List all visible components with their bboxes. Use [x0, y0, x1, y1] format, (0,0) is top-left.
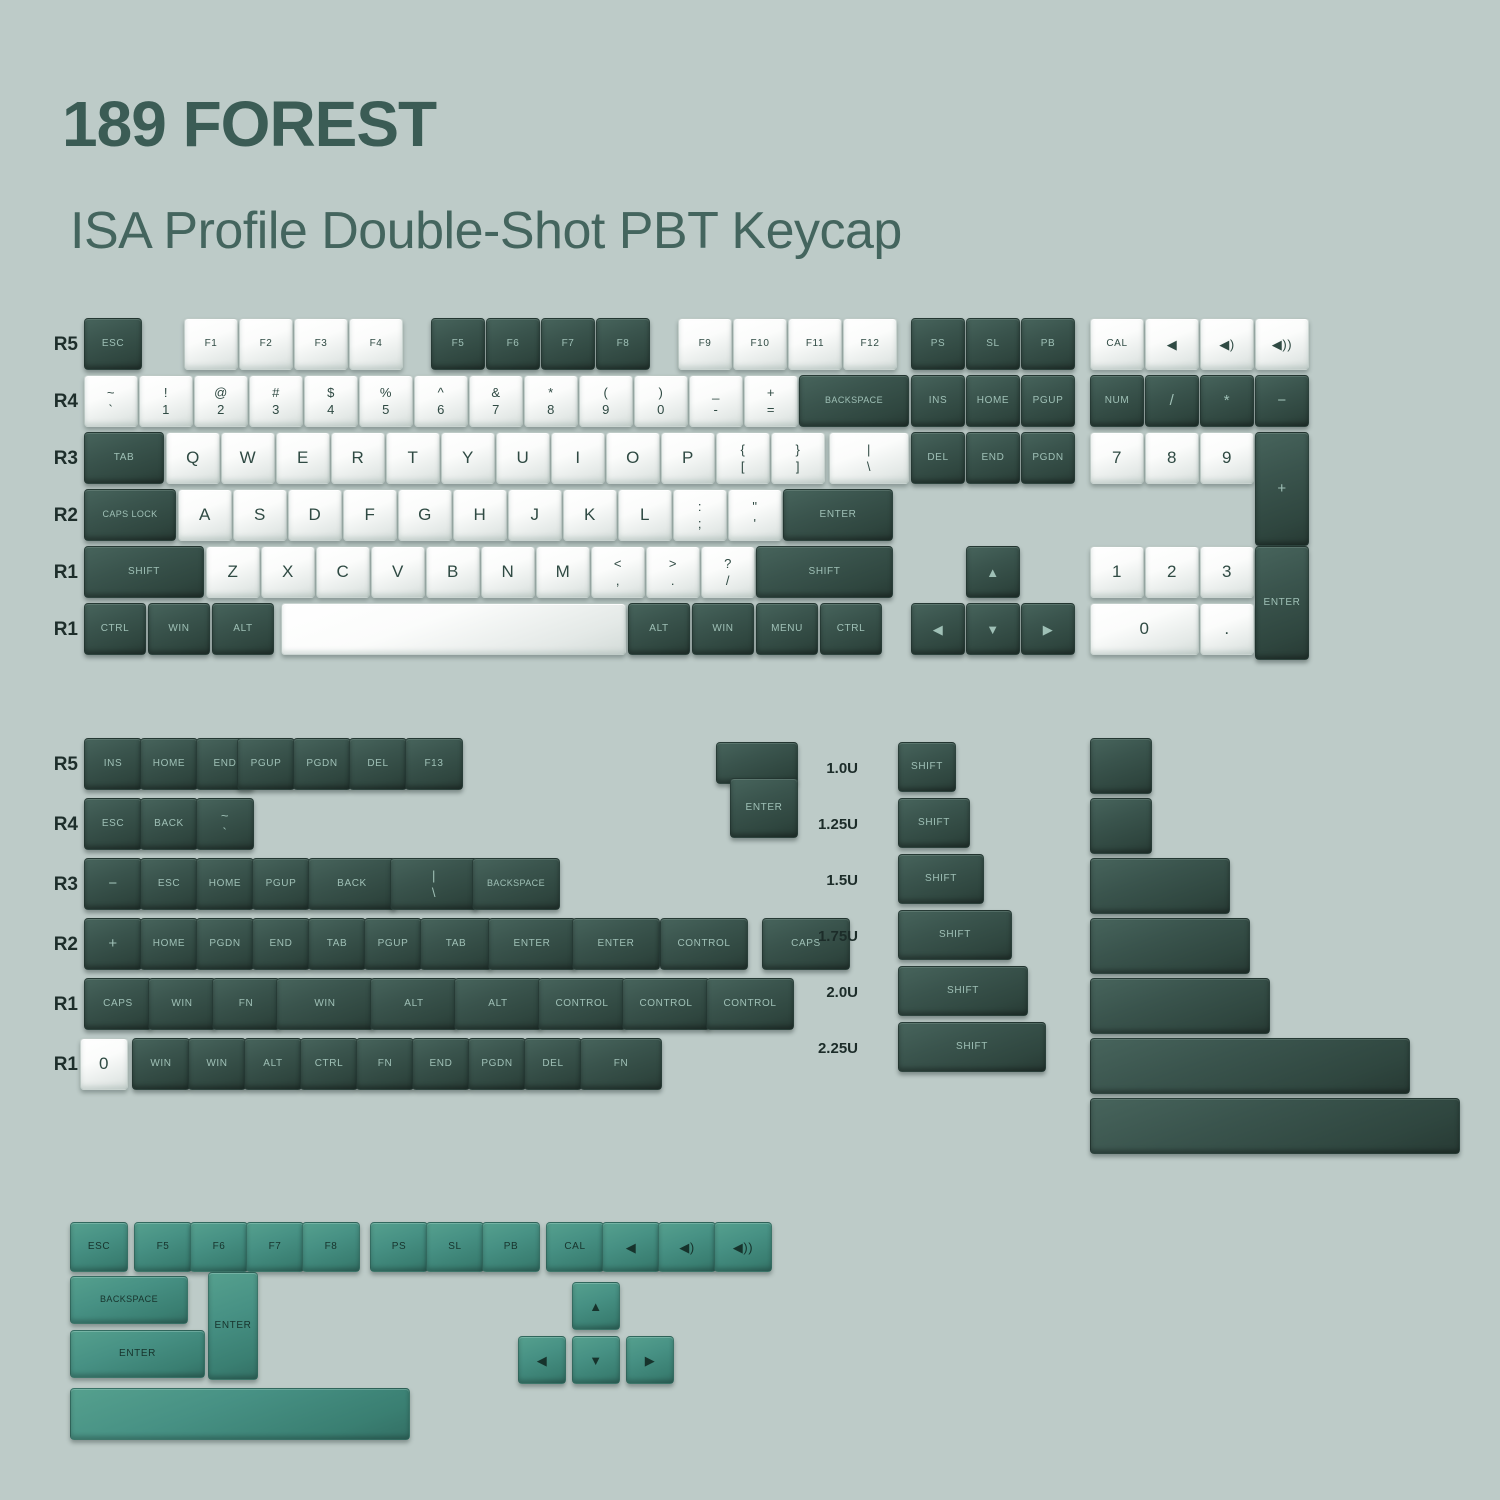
keycap-legend: /: [1170, 393, 1175, 409]
keycap-cal[interactable]: CAL: [1090, 318, 1144, 370]
keycap-o[interactable]: O: [606, 432, 660, 484]
keycap-blank[interactable]: |\: [829, 432, 909, 484]
keycap-legend: X: [282, 563, 294, 581]
keycap-f12[interactable]: F12: [843, 318, 897, 370]
keycap-blank[interactable]: +=: [744, 375, 798, 427]
keycap-blank[interactable]: "': [728, 489, 782, 541]
keycap-2[interactable]: 2: [1145, 546, 1199, 598]
row-label-r2: R2: [34, 505, 78, 527]
keycap-z[interactable]: Z: [206, 546, 260, 598]
keycap-tab[interactable]: TAB: [308, 918, 366, 970]
keycap-win[interactable]: WIN: [148, 603, 210, 655]
keycap-back[interactable]: BACK: [308, 858, 396, 910]
keycap-ctrl[interactable]: CTRL: [84, 603, 146, 655]
keycap-h[interactable]: H: [453, 489, 507, 541]
keycap-shift[interactable]: SHIFT: [898, 1022, 1046, 1072]
keycap-pgup[interactable]: PGUP: [364, 918, 422, 970]
keycap-control[interactable]: CONTROL: [538, 978, 626, 1030]
keycap-fn[interactable]: FN: [580, 1038, 662, 1090]
keycap-t[interactable]: T: [386, 432, 440, 484]
keycap-legend: ESC: [158, 879, 180, 890]
keycap-legend: ◀: [1167, 338, 1178, 351]
keycap-blank[interactable]: >.: [646, 546, 700, 598]
prev-track-icon[interactable]: ◀: [1145, 318, 1199, 370]
keycap-blank-1[interactable]: [1090, 738, 1152, 794]
keycap-legend: ◀: [537, 1354, 548, 1367]
keycap-legend: ◀: [933, 623, 944, 636]
keycap-legend: PGUP: [251, 759, 282, 770]
keycap-legend: DEL: [367, 759, 388, 770]
keycap-legend: WIN: [171, 999, 192, 1010]
keycap-shift[interactable]: SHIFT: [898, 910, 1012, 960]
keycap-end[interactable]: END: [252, 918, 310, 970]
size-label-1-5u: 1.5U: [790, 872, 858, 889]
keycap-legend: ▼: [986, 623, 999, 636]
keycap-blank[interactable]: _-: [689, 375, 743, 427]
keycap-i[interactable]: I: [551, 432, 605, 484]
keycap-esc[interactable]: ESC: [84, 798, 142, 850]
keycap-sl[interactable]: SL: [426, 1222, 484, 1272]
keycap-legend: TAB: [114, 453, 135, 464]
arrow-down-icon[interactable]: ▼: [572, 1336, 620, 1384]
keycap-legend: BACKSPACE: [825, 396, 883, 405]
keycap-p[interactable]: P: [661, 432, 715, 484]
keycap-1[interactable]: 1: [1090, 546, 1144, 598]
keycap-g[interactable]: G: [398, 489, 452, 541]
keycap-legend: ◀): [679, 1241, 695, 1254]
keycap-4[interactable]: $4: [304, 375, 358, 427]
keycap-legend: PGDN: [481, 1059, 512, 1070]
keycap-w[interactable]: W: [221, 432, 275, 484]
keycap-alt[interactable]: ALT: [244, 1038, 302, 1090]
keycap-dual-legend: #3: [272, 385, 280, 417]
keycap-legend: T: [408, 449, 419, 467]
keycap-legend: CAL: [564, 1242, 585, 1253]
keycap-legend: SHIFT: [911, 762, 943, 773]
keycap-esc[interactable]: ESC: [84, 318, 142, 370]
keycap-ps[interactable]: PS: [911, 318, 965, 370]
keycap-legend: G: [418, 506, 432, 524]
row-label-r3: R3: [34, 448, 78, 470]
keycap-n[interactable]: N: [481, 546, 535, 598]
row-label-r1: R1: [34, 562, 78, 584]
keycap-tab[interactable]: TAB: [84, 432, 164, 484]
keycap-blank[interactable]: ?/: [701, 546, 755, 598]
keycap-del[interactable]: DEL: [349, 738, 407, 790]
keycap-legend: TAB: [446, 939, 467, 950]
volume-up-icon[interactable]: ◀)): [714, 1222, 772, 1272]
keycap-legend: PS: [392, 1242, 407, 1253]
keycap-pgup[interactable]: PGUP: [237, 738, 295, 790]
keycap-backspace[interactable]: BACKSPACE: [799, 375, 909, 427]
keycap-shift[interactable]: SHIFT: [756, 546, 893, 598]
keycap-legend: HOME: [977, 396, 1009, 407]
keycap-legend: CONTROL: [555, 999, 608, 1010]
keycap-home[interactable]: HOME: [140, 738, 198, 790]
keycap-tab[interactable]: TAB: [420, 918, 492, 970]
keycap-0[interactable]: 0: [80, 1038, 128, 1090]
keycap-legend: SHIFT: [956, 1042, 988, 1053]
row-label-r4: R4: [34, 814, 78, 836]
keycap-num[interactable]: NUM: [1090, 375, 1144, 427]
keycap-win[interactable]: WIN: [692, 603, 754, 655]
keycap-legend: BACKSPACE: [100, 1295, 158, 1304]
keycap-legend: *: [1224, 393, 1230, 409]
keycap-legend: CONTROL: [639, 999, 692, 1010]
keycap-f6[interactable]: F6: [486, 318, 540, 370]
keycap-legend: F3: [315, 339, 328, 350]
keycap-legend: 1: [1112, 563, 1122, 581]
keycap-pgup[interactable]: PGUP: [252, 858, 310, 910]
keycap-legend: ENTER: [746, 803, 783, 814]
keycap-esc[interactable]: ESC: [70, 1222, 128, 1272]
keycap-9[interactable]: 9: [1200, 432, 1254, 484]
keycap-legend: L: [640, 506, 650, 524]
keycap-win[interactable]: WIN: [188, 1038, 246, 1090]
keycap-dual-legend: <,: [614, 556, 622, 588]
keycap-f10[interactable]: F10: [733, 318, 787, 370]
keycap-shift[interactable]: SHIFT: [898, 966, 1028, 1016]
keycap-enter[interactable]: ENTER: [1255, 546, 1309, 660]
keycap-blank[interactable]: *: [1200, 375, 1254, 427]
keycap-pgdn[interactable]: PGDN: [293, 738, 351, 790]
keycap-blank[interactable]: <,: [591, 546, 645, 598]
keycap-3[interactable]: 3: [1200, 546, 1254, 598]
keycap-blank[interactable]: {[: [716, 432, 770, 484]
keycap-q[interactable]: Q: [166, 432, 220, 484]
keycap-blank-4[interactable]: [1090, 918, 1250, 974]
keycap-legend: ▶: [645, 1354, 656, 1367]
keycap-u[interactable]: U: [496, 432, 550, 484]
keycap-legend: ESC: [102, 819, 124, 830]
keycap-legend: ENTER: [215, 1321, 252, 1332]
keycap-blank[interactable]: /: [1145, 375, 1199, 427]
keycap-7[interactable]: 7: [1090, 432, 1144, 484]
keycap-v[interactable]: V: [371, 546, 425, 598]
keycap-dual-legend: *8: [547, 385, 555, 417]
keycap-control[interactable]: CONTROL: [660, 918, 748, 970]
keycap-alt[interactable]: ALT: [370, 978, 458, 1030]
keycap-end[interactable]: END: [412, 1038, 470, 1090]
keycap-legend: F9: [699, 339, 712, 350]
keycap-blank-3[interactable]: [1090, 858, 1230, 914]
keycap-dual-legend: ^6: [437, 385, 445, 417]
keycap-pgdn[interactable]: PGDN: [196, 918, 254, 970]
keycap-legend: PS: [931, 339, 946, 350]
keycap-win[interactable]: WIN: [148, 978, 216, 1030]
keycap-legend: SL: [986, 339, 999, 350]
keycap-legend: +: [1277, 481, 1286, 497]
keycap-legend: CTRL: [315, 1059, 344, 1070]
keycap-legend: ENTER: [514, 939, 551, 950]
keycap-blank[interactable]: |\: [390, 858, 478, 910]
arrow-right-icon[interactable]: ▶: [626, 1336, 674, 1384]
keycap-x[interactable]: X: [261, 546, 315, 598]
keycap-l[interactable]: L: [618, 489, 672, 541]
keycap-dual-legend: :;: [698, 499, 702, 531]
keycap-legend: ALT: [649, 624, 668, 635]
keycap-cal[interactable]: CAL: [546, 1222, 604, 1272]
keycap-blank[interactable]: −: [1255, 375, 1309, 427]
keycap-legend: F: [365, 506, 376, 524]
keycap-legend: HOME: [209, 879, 241, 890]
keycap-legend: HOME: [153, 759, 185, 770]
keycap-blank[interactable]: .: [1200, 603, 1254, 655]
keycap-enter-wide[interactable]: ENTER: [70, 1330, 205, 1378]
keycap-shift[interactable]: SHIFT: [898, 854, 984, 904]
keycap-f5[interactable]: F5: [431, 318, 485, 370]
keycap-blank-7[interactable]: [1090, 1098, 1460, 1154]
keycap-k[interactable]: K: [563, 489, 617, 541]
keycap-2[interactable]: @2: [194, 375, 248, 427]
keycap-alt[interactable]: ALT: [628, 603, 690, 655]
keycap-legend: PGUP: [1033, 396, 1064, 407]
keycap-dual-legend: }]: [796, 442, 801, 474]
keycap-f8[interactable]: F8: [302, 1222, 360, 1272]
keycap-legend: D: [309, 506, 322, 524]
keycap-pb[interactable]: PB: [1021, 318, 1075, 370]
keycap-legend: .: [1224, 620, 1229, 638]
volume-up-icon[interactable]: ◀)): [1255, 318, 1309, 370]
keycap-spacebar-teal[interactable]: [70, 1388, 410, 1440]
keycap-legend: CONTROL: [677, 939, 730, 950]
keycap-f[interactable]: F: [343, 489, 397, 541]
keycap-ins[interactable]: INS: [911, 375, 965, 427]
keycap-f5[interactable]: F5: [134, 1222, 192, 1272]
keycap-menu[interactable]: MENU: [756, 603, 818, 655]
row-label-r2: R2: [34, 934, 78, 956]
keycap-win[interactable]: WIN: [132, 1038, 190, 1090]
keycap-legend: +: [108, 936, 117, 952]
keycap-6[interactable]: ^6: [414, 375, 468, 427]
row-label-r1: R1: [34, 994, 78, 1016]
keycap-f7[interactable]: F7: [541, 318, 595, 370]
keycap-legend: 7: [1112, 449, 1122, 467]
keycap-ctrl[interactable]: CTRL: [300, 1038, 358, 1090]
keycap-legend: M: [556, 563, 571, 581]
keycap-legend: CAPS: [103, 999, 133, 1010]
keycap-legend: N: [502, 563, 515, 581]
keycap-enter[interactable]: ENTER: [572, 918, 660, 970]
keycap-8[interactable]: *8: [524, 375, 578, 427]
keycap-legend: WIN: [314, 999, 335, 1010]
keycap-shift[interactable]: SHIFT: [898, 798, 970, 848]
keycap-f6[interactable]: F6: [190, 1222, 248, 1272]
keycap-1[interactable]: !1: [139, 375, 193, 427]
keycap-pb[interactable]: PB: [482, 1222, 540, 1272]
keycap-b[interactable]: B: [426, 546, 480, 598]
arrow-up-icon[interactable]: ▲: [966, 546, 1020, 598]
keycap-sl[interactable]: SL: [966, 318, 1020, 370]
keycap-legend: W: [240, 449, 257, 467]
keycap-end[interactable]: END: [966, 432, 1020, 484]
arrow-right-icon[interactable]: ▶: [1021, 603, 1075, 655]
arrow-down-icon[interactable]: ▼: [966, 603, 1020, 655]
keycap-del[interactable]: DEL: [524, 1038, 582, 1090]
keycap-legend: O: [626, 449, 640, 467]
keycap-fn[interactable]: FN: [356, 1038, 414, 1090]
keycap-ins[interactable]: INS: [84, 738, 142, 790]
keycap-control[interactable]: CONTROL: [622, 978, 710, 1030]
keycap-blank[interactable]: −: [84, 858, 142, 910]
keycap-legend: ENTER: [820, 510, 857, 521]
keycap-legend: SHIFT: [918, 818, 950, 829]
keycap-legend: WIN: [712, 624, 733, 635]
keycap-win[interactable]: WIN: [276, 978, 374, 1030]
keycap-m[interactable]: M: [536, 546, 590, 598]
size-label-2-25u: 2.25U: [790, 1040, 858, 1057]
keycap-legend: F13: [424, 759, 443, 770]
keycap-legend: PB: [1041, 339, 1056, 350]
keycap-alt[interactable]: ALT: [212, 603, 274, 655]
keycap-d[interactable]: D: [288, 489, 342, 541]
keycap-legend: HOME: [153, 939, 185, 950]
keycap-legend: ALT: [263, 1059, 282, 1070]
keycap-legend: ALT: [233, 624, 252, 635]
keycap-blank-6[interactable]: [1090, 1038, 1410, 1094]
keycap-pgup[interactable]: PGUP: [1021, 375, 1075, 427]
keycap-home[interactable]: HOME: [196, 858, 254, 910]
keycap-c[interactable]: C: [316, 546, 370, 598]
keycap-legend: ESC: [88, 1242, 110, 1253]
keycap-caps[interactable]: CAPS: [84, 978, 152, 1030]
keycap-spacebar[interactable]: [281, 603, 626, 655]
keycap-dual-legend: @2: [214, 385, 228, 417]
keycap-8[interactable]: 8: [1145, 432, 1199, 484]
keycap-9[interactable]: (9: [579, 375, 633, 427]
keycap-legend: Y: [462, 449, 474, 467]
row-label-r5: R5: [34, 334, 78, 356]
keycap-a[interactable]: A: [178, 489, 232, 541]
keycap-r[interactable]: R: [331, 432, 385, 484]
keycap-legend: Q: [186, 449, 200, 467]
keycap-shift[interactable]: SHIFT: [84, 546, 204, 598]
keycap-legend: B: [447, 563, 459, 581]
keycap-f13[interactable]: F13: [405, 738, 463, 790]
keycap-f4[interactable]: F4: [349, 318, 403, 370]
keycap-s[interactable]: S: [233, 489, 287, 541]
arrow-left-icon[interactable]: ◀: [518, 1336, 566, 1384]
keycap-y[interactable]: Y: [441, 432, 495, 484]
keycap-blank-5[interactable]: [1090, 978, 1270, 1034]
keycap-legend: PGDN: [306, 759, 337, 770]
keycap-enter[interactable]: ENTER: [488, 918, 576, 970]
keycap-legend: J: [530, 506, 539, 524]
keycap-legend: ◀)): [1272, 338, 1292, 351]
keycap-blank[interactable]: :;: [673, 489, 727, 541]
size-label-1-75u: 1.75U: [790, 928, 858, 945]
keycap-blank[interactable]: }]: [771, 432, 825, 484]
keycap-legend: FN: [239, 999, 254, 1010]
keycap-f1[interactable]: F1: [184, 318, 238, 370]
keycap-e[interactable]: E: [276, 432, 330, 484]
keycap-pgdn[interactable]: PGDN: [468, 1038, 526, 1090]
keycap-del[interactable]: DEL: [911, 432, 965, 484]
keycap-legend: CAPS LOCK: [102, 510, 157, 519]
keycap-caps-lock[interactable]: CAPS LOCK: [84, 489, 176, 541]
keycap-legend: ▲: [986, 566, 999, 579]
keycap-legend: NUM: [1105, 396, 1130, 407]
keycap-fn[interactable]: FN: [212, 978, 280, 1030]
keycap-f3[interactable]: F3: [294, 318, 348, 370]
keycap-legend: CTRL: [101, 624, 130, 635]
keycap-alt[interactable]: ALT: [454, 978, 542, 1030]
keycap-dual-legend: _-: [712, 385, 720, 417]
keycap-legend: F5: [452, 339, 465, 350]
arrow-up-icon[interactable]: ▲: [572, 1282, 620, 1330]
keycap-legend: I: [575, 449, 580, 467]
keycap-3[interactable]: #3: [249, 375, 303, 427]
keycap-blank[interactable]: +: [84, 918, 142, 970]
keycap-legend: ALT: [404, 999, 423, 1010]
keycap-legend: SHIFT: [947, 986, 979, 997]
volume-down-icon[interactable]: ◀): [658, 1222, 716, 1272]
keycap-blank[interactable]: ~`: [84, 375, 138, 427]
keycap-home[interactable]: HOME: [140, 918, 198, 970]
keycap-f7[interactable]: F7: [246, 1222, 304, 1272]
keycap-enter[interactable]: ENTER: [783, 489, 893, 541]
keycap-legend: 9: [1222, 449, 1232, 467]
keycap-legend: Z: [228, 563, 239, 581]
keycap-blank[interactable]: +: [1255, 432, 1309, 546]
keycap-legend: END: [270, 939, 293, 950]
keycap-enter-tall[interactable]: ENTER: [208, 1272, 258, 1380]
volume-down-icon[interactable]: ◀): [1200, 318, 1254, 370]
keycap-ctrl[interactable]: CTRL: [820, 603, 882, 655]
keycap-legend: SHIFT: [128, 567, 160, 578]
row-label-r1: R1: [34, 619, 78, 641]
row-label-r4: R4: [34, 391, 78, 413]
keycap-legend: P: [682, 449, 694, 467]
keycap-pgdn[interactable]: PGDN: [1021, 432, 1075, 484]
keycap-0[interactable]: 0: [1090, 603, 1199, 655]
keycap-7[interactable]: &7: [469, 375, 523, 427]
keycap-back[interactable]: BACK: [140, 798, 198, 850]
keycap-backspace[interactable]: BACKSPACE: [472, 858, 560, 910]
keycap-dual-legend: >.: [669, 556, 677, 588]
prev-track-icon[interactable]: ◀: [602, 1222, 660, 1272]
keycap-ps[interactable]: PS: [370, 1222, 428, 1272]
keycap-legend: R: [352, 449, 365, 467]
keycap-legend: CAL: [1106, 339, 1127, 350]
keycap-f8[interactable]: F8: [596, 318, 650, 370]
keycap-f9[interactable]: F9: [678, 318, 732, 370]
keycap-5[interactable]: %5: [359, 375, 413, 427]
keycap-blank[interactable]: ~`: [196, 798, 254, 850]
keycap-backspace[interactable]: BACKSPACE: [70, 1276, 188, 1324]
keycap-f11[interactable]: F11: [788, 318, 842, 370]
keycap-j[interactable]: J: [508, 489, 562, 541]
keycap-legend: ▲: [589, 1300, 602, 1313]
keycap-shift[interactable]: SHIFT: [898, 742, 956, 792]
row-label-r3: R3: [34, 874, 78, 896]
keycap-legend: A: [199, 506, 211, 524]
keycap-esc[interactable]: ESC: [140, 858, 198, 910]
keycap-legend: WIN: [206, 1059, 227, 1070]
keycap-blank-2[interactable]: [1090, 798, 1152, 854]
keycap-f2[interactable]: F2: [239, 318, 293, 370]
keycap-legend: FN: [378, 1059, 393, 1070]
keycap-home[interactable]: HOME: [966, 375, 1020, 427]
keycap-legend: 8: [1167, 449, 1177, 467]
keycap-legend: V: [392, 563, 404, 581]
keycap-0[interactable]: )0: [634, 375, 688, 427]
keycap-control[interactable]: CONTROL: [706, 978, 794, 1030]
arrow-left-icon[interactable]: ◀: [911, 603, 965, 655]
keycap-legend: PGDN: [1032, 453, 1063, 464]
keycap-legend: ENTER: [598, 939, 635, 950]
keycap-legend: F6: [507, 339, 520, 350]
